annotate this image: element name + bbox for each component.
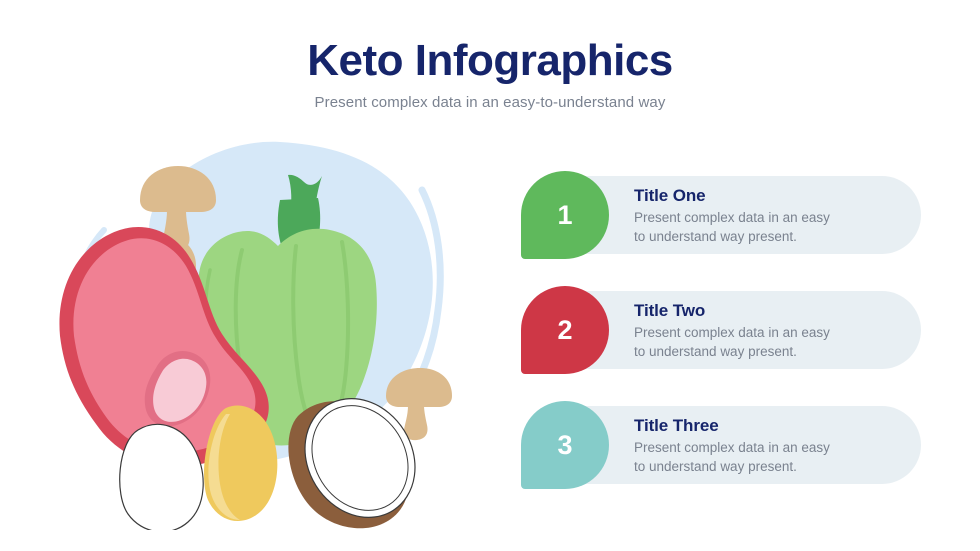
card-description-1: Present complex data in an easy to under… <box>634 209 830 246</box>
card-title-3: Title Three <box>634 416 830 436</box>
card-title-1: Title One <box>634 186 830 206</box>
card-number-2: 2 <box>557 315 572 346</box>
slide-header: Keto Infographics Present complex data i… <box>0 36 980 111</box>
card-number-badge-2: 2 <box>521 286 609 374</box>
card-text-1: Title One Present complex data in an eas… <box>634 184 830 246</box>
info-card-1[interactable]: 1 Title One Present complex data in an e… <box>521 168 921 262</box>
card-description-3: Present complex data in an easy to under… <box>634 439 830 476</box>
keto-food-illustration <box>30 130 500 530</box>
card-number-3: 3 <box>557 430 572 461</box>
slide-canvas: Keto Infographics Present complex data i… <box>0 0 980 551</box>
card-number-1: 1 <box>557 200 572 231</box>
info-card-3[interactable]: 3 Title Three Present complex data in an… <box>521 398 921 492</box>
info-card-2[interactable]: 2 Title Two Present complex data in an e… <box>521 283 921 377</box>
info-card-list: 1 Title One Present complex data in an e… <box>521 168 921 492</box>
card-number-badge-1: 1 <box>521 171 609 259</box>
card-description-2: Present complex data in an easy to under… <box>634 324 830 361</box>
page-title: Keto Infographics <box>0 36 980 85</box>
yolk-egg-icon <box>204 406 277 522</box>
card-title-2: Title Two <box>634 301 830 321</box>
page-subtitle: Present complex data in an easy-to-under… <box>0 94 980 111</box>
card-number-badge-3: 3 <box>521 401 609 489</box>
card-text-2: Title Two Present complex data in an eas… <box>634 299 830 361</box>
card-text-3: Title Three Present complex data in an e… <box>634 414 830 476</box>
